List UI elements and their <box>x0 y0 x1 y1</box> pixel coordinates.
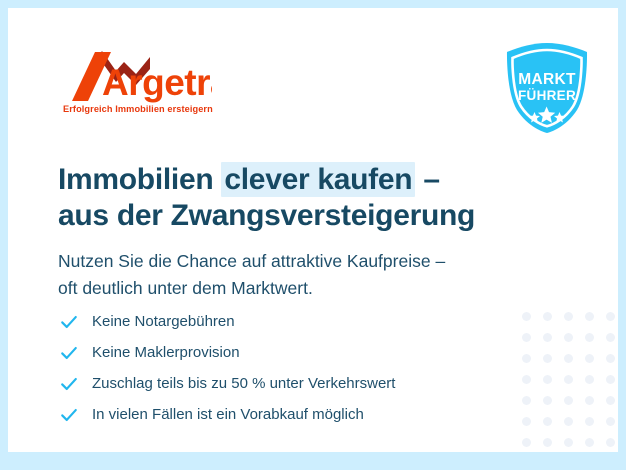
decoration-dot <box>564 438 573 447</box>
list-item: Zuschlag teils bis zu 50 % unter Verkehr… <box>60 368 500 399</box>
svg-text:Argetra: Argetra <box>102 62 212 103</box>
decoration-dot <box>522 354 531 363</box>
decoration-dot <box>585 333 594 342</box>
headline-line2: aus der Zwangsversteigerung <box>58 199 475 232</box>
logo-tagline: Erfolgreich Immobilien ersteigern <box>63 104 213 115</box>
markt-fuehrer-badge: MARKT FÜHRER <box>499 40 595 136</box>
decoration-dot <box>606 312 615 321</box>
decoration-dot <box>564 312 573 321</box>
argetra-logo[interactable]: Argetra Erfolgreich Immobilien ersteiger… <box>62 49 212 119</box>
dot-grid-decoration <box>522 312 618 452</box>
benefit-list: Keine Notargebühren Keine Maklerprovisio… <box>60 306 500 430</box>
list-item: Keine Notargebühren <box>60 306 500 337</box>
decoration-dot <box>543 375 552 384</box>
list-item-label: Keine Notargebühren <box>92 312 235 332</box>
decoration-dot <box>522 438 531 447</box>
headline-highlight: clever kaufen <box>221 162 415 197</box>
headline: Immobilien clever kaufen – aus der Zwang… <box>58 162 528 234</box>
decoration-dot <box>522 312 531 321</box>
list-item-label: In vielen Fällen ist ein Vorabkauf mögli… <box>92 405 364 425</box>
decoration-dot <box>564 396 573 405</box>
badge-line1: MARKT <box>518 71 576 88</box>
decoration-dot <box>585 438 594 447</box>
decoration-dot <box>585 417 594 426</box>
list-item: Keine Maklerprovision <box>60 337 500 368</box>
decoration-dot <box>522 333 531 342</box>
decoration-dot <box>543 396 552 405</box>
decoration-dot <box>606 333 615 342</box>
check-icon <box>60 375 78 393</box>
decoration-dot <box>606 438 615 447</box>
decoration-dot <box>522 396 531 405</box>
headline-suffix: – <box>415 163 439 196</box>
list-item-label: Keine Maklerprovision <box>92 343 240 363</box>
list-item-label: Zuschlag teils bis zu 50 % unter Verkehr… <box>92 374 395 394</box>
decoration-dot <box>564 417 573 426</box>
argetra-a-roof-icon: Argetra <box>62 49 212 105</box>
decoration-dot <box>543 354 552 363</box>
decoration-dot <box>585 396 594 405</box>
decoration-dot <box>522 417 531 426</box>
decoration-dot <box>543 417 552 426</box>
headline-prefix: Immobilien <box>58 163 221 196</box>
decoration-dot <box>606 396 615 405</box>
decoration-dot <box>606 354 615 363</box>
decoration-dot <box>543 333 552 342</box>
decoration-dot <box>564 354 573 363</box>
subheadline: Nutzen Sie die Chance auf attraktive Kau… <box>58 248 558 302</box>
list-item: In vielen Fällen ist ein Vorabkauf mögli… <box>60 399 500 430</box>
subheadline-line1: Nutzen Sie die Chance auf attraktive Kau… <box>58 251 445 271</box>
decoration-dot <box>606 417 615 426</box>
promo-banner: Argetra Erfolgreich Immobilien ersteiger… <box>0 0 626 470</box>
decoration-dot <box>543 438 552 447</box>
subheadline-line2: oft deutlich unter dem Marktwert. <box>58 278 313 298</box>
check-icon <box>60 406 78 424</box>
decoration-dot <box>543 312 552 321</box>
decoration-dot <box>564 375 573 384</box>
check-icon <box>60 313 78 331</box>
badge-line2: FÜHRER <box>518 88 576 103</box>
decoration-dot <box>585 312 594 321</box>
decoration-dot <box>585 354 594 363</box>
banner-card: Argetra Erfolgreich Immobilien ersteiger… <box>8 8 618 452</box>
decoration-dot <box>564 333 573 342</box>
check-icon <box>60 344 78 362</box>
decoration-dot <box>522 375 531 384</box>
headline-line1: Immobilien clever kaufen – <box>58 162 440 197</box>
decoration-dot <box>606 375 615 384</box>
decoration-dot <box>585 375 594 384</box>
